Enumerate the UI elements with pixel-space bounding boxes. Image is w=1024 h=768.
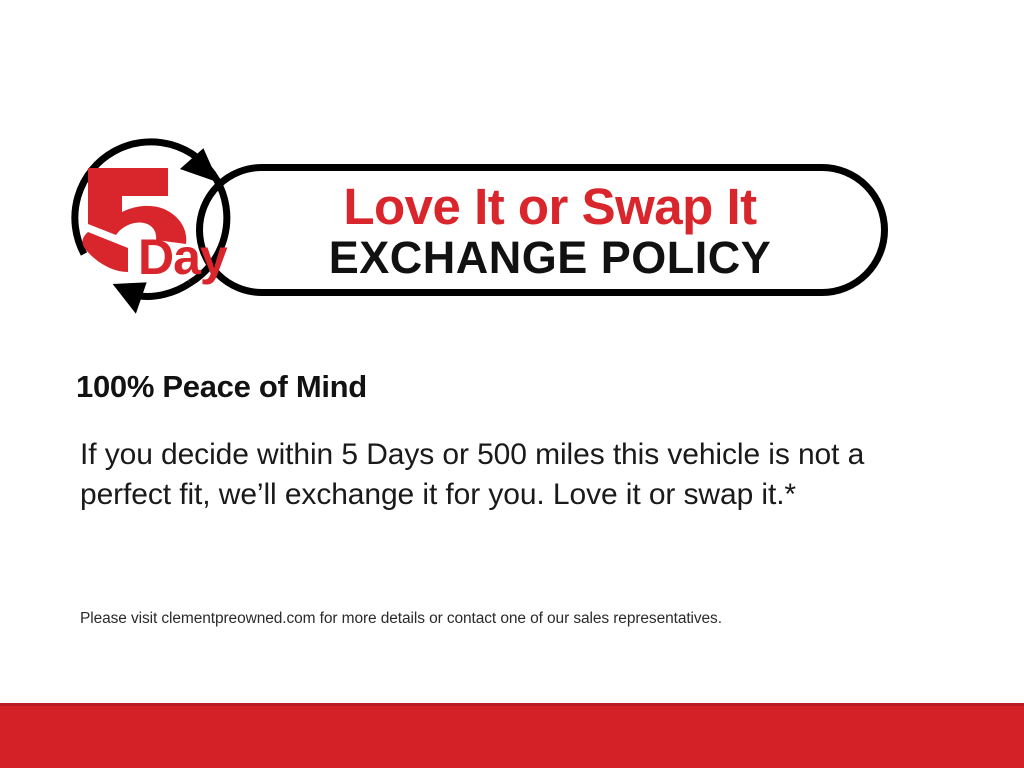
exchange-policy-badge: Day Love It or Swap It EXCHANGE POLICY <box>62 132 832 322</box>
fine-print-disclaimer: Please visit clementpreowned.com for mor… <box>80 609 940 629</box>
footer-bar-top-rule <box>0 703 1024 706</box>
badge-headline-primary: Love It or Swap It <box>343 180 756 234</box>
badge-text-block: Love It or Swap It EXCHANGE POLICY <box>212 166 888 294</box>
subheading: 100% Peace of Mind <box>76 369 367 405</box>
badge-headline-secondary: EXCHANGE POLICY <box>329 235 772 281</box>
body-paragraph: If you decide within 5 Days or 500 miles… <box>80 435 870 515</box>
footer-bar <box>0 703 1024 768</box>
promo-slide: Day Love It or Swap It EXCHANGE POLICY 1… <box>0 0 1024 768</box>
